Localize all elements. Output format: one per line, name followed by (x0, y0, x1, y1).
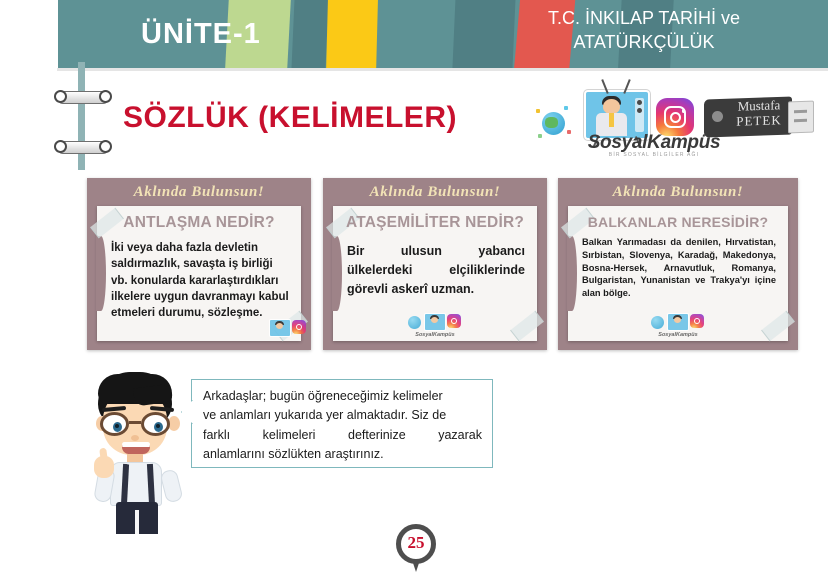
bubble-line-3: farklı kelimeleri defterinize yazarak (203, 426, 482, 445)
vocabulary-card: Aklında Bulunsun! ATAŞEMİLİTER NEDİR? Bi… (323, 178, 547, 350)
card-body-text: Bir ulusun yabancı ülkelerdeki elçilikle… (347, 242, 525, 298)
instagram-icon (656, 98, 694, 136)
bubble-line-4: anlamlarını sözlükten araştırınız. (203, 445, 482, 464)
card-title: ATAŞEMİLİTER NEDİR? (333, 214, 537, 232)
glasses-icon (100, 412, 170, 436)
unit-label: ÜNİTE-1 (141, 18, 261, 51)
card-paper: BALKANLAR NERESİDİR? Balkan Yarımadası d… (568, 206, 788, 341)
bubble-line-1: Arkadaşlar; bugün öğreneceğimiz kelimele… (203, 387, 482, 406)
mini-tv-icon (269, 319, 291, 337)
course-title-line2: ATATÜRKÇÜLÜK (484, 30, 804, 54)
page-number-badge: 25 (396, 524, 436, 574)
vocabulary-card: Aklında Bulunsun! ANTLAŞMA NEDİR? İki ve… (87, 178, 311, 350)
brand-tagline: BİR SOSYAL BİLGİLER AĞI (564, 152, 744, 158)
page-left-margin (0, 0, 58, 68)
thumbs-up-icon (94, 456, 114, 478)
cartoon-boy-illustration (82, 372, 194, 532)
mini-globe-icon (651, 316, 664, 329)
usb-label-line2: PETEK (726, 113, 792, 130)
speech-bubble-text: Arkadaşlar; bugün öğreneceğimiz kelimele… (203, 387, 482, 465)
mini-instagram-icon (447, 314, 461, 328)
course-title: T.C. İNKILAP TARİHİ ve ATATÜRKÇÜLÜK (484, 6, 804, 55)
mini-brand-logo: SosyalKampüs (651, 313, 705, 337)
mini-instagram-icon (292, 320, 306, 334)
speech-bubble: Arkadaşlar; bugün öğreneceğimiz kelimele… (191, 379, 493, 468)
mini-tv-icon (424, 313, 446, 331)
page-title: SÖZLÜK (KELİMELER) (123, 101, 457, 135)
binder-ring-icon-top (57, 91, 109, 104)
card-title: BALKANLAR NERESİDİR? (568, 214, 788, 230)
decorative-shape-teal-2 (291, 0, 329, 68)
decorative-shape-yellow (326, 0, 378, 68)
brand-name: SosyalKampüs (564, 132, 744, 154)
mini-brand-name: SosyalKampüs (408, 332, 462, 338)
header-band-shadow (57, 68, 828, 71)
usb-label-line1: Mustafa (738, 97, 781, 113)
tape-icon-bottom-right (761, 311, 795, 342)
card-header-note: Aklında Bulunsun! (87, 184, 311, 201)
vocabulary-cards-row: Aklında Bulunsun! ANTLAŞMA NEDİR? İki ve… (87, 178, 798, 350)
brand-logo-cluster: Mustafa PETEK SosyalKampüs BİR SOSYAL Bİ… (528, 80, 828, 162)
mini-brand-name: SosyalKampüs (651, 332, 705, 338)
tape-icon-bottom-right (510, 311, 544, 342)
binder-ring-icon-bottom (57, 141, 109, 154)
header-band: ÜNİTE-1 T.C. İNKILAP TARİHİ ve ATATÜRKÇÜ… (57, 0, 828, 68)
card-body-text: İki veya daha fazla devletin saldırmazlı… (111, 240, 289, 322)
vocabulary-card: Aklında Bulunsun! BALKANLAR NERESİDİR? B… (558, 178, 798, 350)
mini-instagram-icon (690, 314, 704, 328)
bubble-line-2: ve anlamları yukarıda yer almaktadır. Si… (203, 406, 482, 425)
card-header-note: Aklında Bulunsun! (558, 184, 798, 201)
mini-globe-icon (408, 316, 421, 329)
page-number: 25 (396, 533, 436, 553)
mini-brand-logo: SosyalKampüs (408, 313, 462, 337)
card-header-note: Aklında Bulunsun! (323, 184, 547, 201)
mini-tv-icon (667, 313, 689, 331)
card-paper: ANTLAŞMA NEDİR? İki veya daha fazla devl… (97, 206, 301, 341)
usb-label: Mustafa PETEK (726, 98, 792, 130)
mini-brand-logo (253, 319, 287, 337)
card-title: ANTLAŞMA NEDİR? (97, 214, 301, 232)
card-paper: ATAŞEMİLİTER NEDİR? Bir ulusun yabancı ü… (333, 206, 537, 341)
card-body-text: Balkan Yarımadası da denilen, Hırvatista… (582, 236, 776, 300)
course-title-line1: T.C. İNKILAP TARİHİ ve (548, 8, 740, 28)
